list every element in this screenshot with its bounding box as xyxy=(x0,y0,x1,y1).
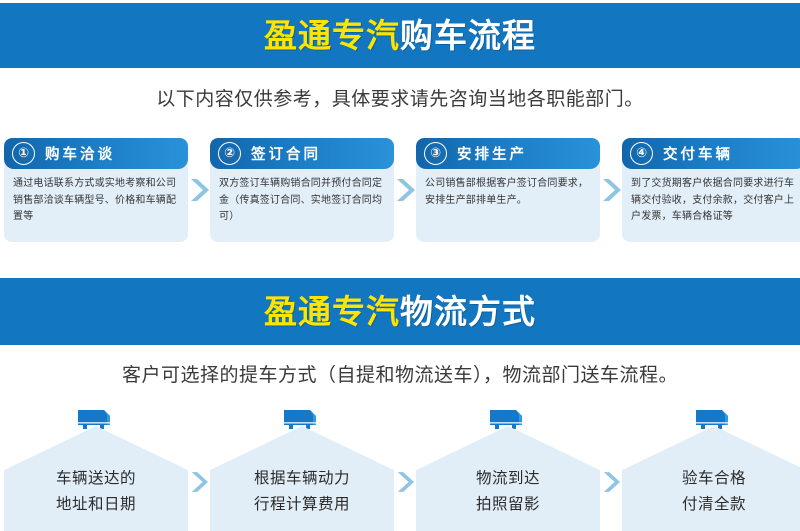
logistics-card-text: 验车合格 付清全款 xyxy=(622,426,800,531)
step-card: ④ 交付车辆 到了交货期客户依据合同要求进行车辆交付验收，支付余款，交付客户上户… xyxy=(622,138,800,242)
step-card-header: ① 购车洽谈 xyxy=(4,138,188,169)
step-card-body: 到了交货期客户依据合同要求进行车辆交付验收，支付余款，交付客户上户发票，车辆合格… xyxy=(622,169,800,226)
step-number-badge: ② xyxy=(218,142,241,165)
purchase-banner: 盈通专汽购车流程 xyxy=(0,3,800,68)
logistics-card-text: 物流到达 拍照留影 xyxy=(416,426,600,531)
logistics-card-text: 车辆送达的 地址和日期 xyxy=(4,426,188,531)
purchase-step-list: ① 购车洽谈 通过电话联系方式或实地考察和公司销售部洽谈车辆型号、价格和车辆配置… xyxy=(0,138,800,242)
chevron-right-icon xyxy=(600,404,622,531)
logistics-banner: 盈通专汽物流方式 xyxy=(0,278,800,345)
step-card-body: 通过电话联系方式或实地考察和公司销售部洽谈车辆型号、价格和车辆配置等 xyxy=(4,169,188,226)
step-card-body: 双方签订车辆购销合同并预付合同定金（传真签订合同、实地签订合同均可） xyxy=(210,169,394,226)
step-card: ③ 安排生产 公司销售部根据客户签订合同要求，安排生产部排单生产。 xyxy=(416,138,600,242)
logistics-card: 验车合格 付清全款 xyxy=(622,404,800,531)
logistics-banner-subject: 物流方式 xyxy=(400,292,536,331)
logistics-card-line-2: 付清全款 xyxy=(682,492,746,518)
flow-infographic-page: 盈通专汽购车流程 以下内容仅供参考，具体要求请先咨询当地各职能部门。 ① 购车洽… xyxy=(0,0,800,531)
logistics-card-text: 根据车辆动力 行程计算费用 xyxy=(210,426,394,531)
chevron-right-icon xyxy=(394,138,416,242)
brand-name: 盈通专汽 xyxy=(264,16,400,55)
step-card: ① 购车洽谈 通过电话联系方式或实地考察和公司销售部洽谈车辆型号、价格和车辆配置… xyxy=(4,138,188,242)
step-number-badge: ① xyxy=(12,142,35,165)
step-card-title: 交付车辆 xyxy=(663,143,733,164)
step-number-badge: ④ xyxy=(630,142,653,165)
logistics-card-line-2: 拍照留影 xyxy=(476,492,540,518)
step-card-body: 公司销售部根据客户签订合同要求，安排生产部排单生产。 xyxy=(416,169,600,209)
logistics-card-line-2: 地址和日期 xyxy=(56,492,136,518)
step-card-header: ④ 交付车辆 xyxy=(622,138,800,169)
logistics-card: 根据车辆动力 行程计算费用 xyxy=(210,404,394,531)
logistics-step-list: 车辆送达的 地址和日期 根据车辆动力 行程计算 xyxy=(0,404,800,531)
purchase-lead-text: 以下内容仅供参考，具体要求请先咨询当地各职能部门。 xyxy=(0,84,800,111)
logistics-card-line-2: 行程计算费用 xyxy=(254,492,350,518)
step-card-header: ③ 安排生产 xyxy=(416,138,600,169)
purchase-banner-title: 盈通专汽购车流程 xyxy=(264,19,536,52)
step-card-title: 安排生产 xyxy=(457,143,527,164)
logistics-card: 物流到达 拍照留影 xyxy=(416,404,600,531)
logistics-card: 车辆送达的 地址和日期 xyxy=(4,404,188,531)
step-number-badge: ③ xyxy=(424,142,447,165)
logistics-banner-title: 盈通专汽物流方式 xyxy=(264,295,536,328)
logistics-card-line-1: 物流到达 xyxy=(476,466,540,492)
step-card-header: ② 签订合同 xyxy=(210,138,394,169)
step-card-title: 签订合同 xyxy=(251,143,321,164)
purchase-banner-subject: 购车流程 xyxy=(400,16,536,55)
logistics-lead-text: 客户可选择的提车方式（自提和物流送车），物流部门送车流程。 xyxy=(0,360,800,387)
logistics-card-line-1: 根据车辆动力 xyxy=(254,466,350,492)
chevron-right-icon xyxy=(188,404,210,531)
brand-name: 盈通专汽 xyxy=(264,292,400,331)
chevron-right-icon xyxy=(394,404,416,531)
step-card-title: 购车洽谈 xyxy=(45,143,115,164)
step-card: ② 签订合同 双方签订车辆购销合同并预付合同定金（传真签订合同、实地签订合同均可… xyxy=(210,138,394,242)
chevron-right-icon xyxy=(188,138,210,242)
logistics-card-line-1: 验车合格 xyxy=(682,466,746,492)
logistics-card-line-1: 车辆送达的 xyxy=(56,466,136,492)
chevron-right-icon xyxy=(600,138,622,242)
